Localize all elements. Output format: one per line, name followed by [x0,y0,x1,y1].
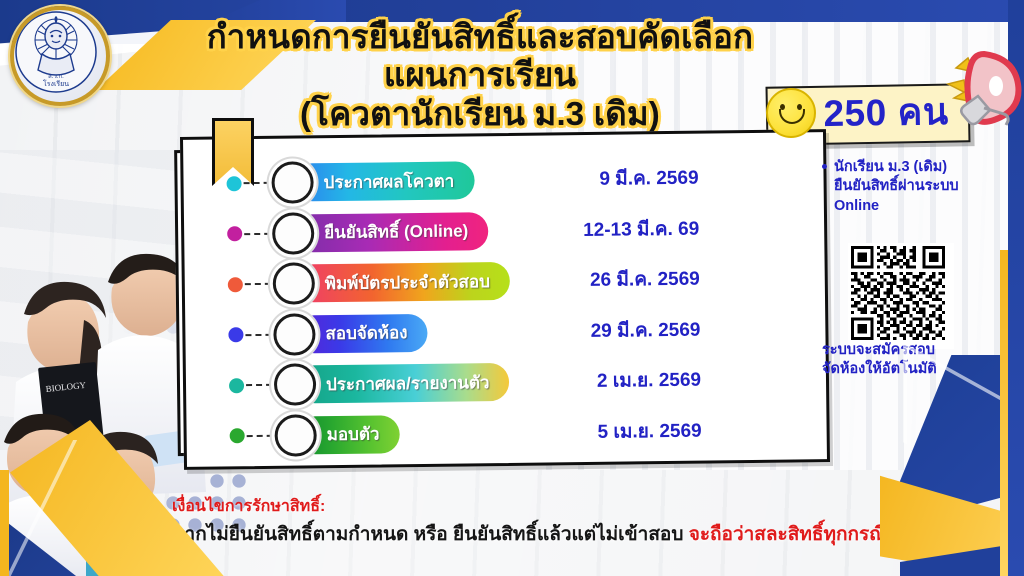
smiley-face-icon [766,88,816,138]
timeline-dot-icon [227,226,242,241]
timeline-dot-icon [230,428,245,443]
timeline-step-label[interactable]: พิมพ์บัตรประจำตัวสอบ [295,262,511,303]
timeline-step-date: 9 มี.ค. 2569 [599,163,699,194]
timeline-leader-line [245,333,271,335]
timeline-ring-icon [273,313,316,356]
timeline-step-date: 26 มี.ค. 2569 [590,264,700,295]
timeline-dot-icon [227,176,242,191]
timeline-step-label[interactable]: ประกาศผลโควตา [293,161,474,201]
timeline-step-label[interactable]: ยืนยันสิทธิ์ (Online) [294,212,489,252]
timeline-ring-icon [272,212,315,255]
bullet-dot-icon [822,164,827,169]
timeline-row[interactable]: ประกาศผล/รายงานตัว2 เม.ย. 2569 [183,355,824,409]
timeline-leader-line [245,283,271,285]
svg-text:ส.ว.ก.: ส.ว.ก. [48,73,64,80]
conditions-heading: เงื่อนไขการรักษาสิทธิ์: [172,494,325,519]
megaphone-icon [938,34,1024,126]
timeline-step-date: 2 เม.ย. 2569 [597,365,701,396]
timeline-dot-icon [228,327,243,342]
timeline-leader-line [247,434,273,436]
timeline-row[interactable]: พิมพ์บัตรประจำตัวสอบ26 มี.ค. 2569 [182,254,823,308]
left-yellow-strip [0,470,9,576]
poster-canvas: BIOLOGY [0,0,1024,576]
timeline-row[interactable]: ยืนยันสิทธิ์ (Online)12-13 มี.ค. 69 [181,204,822,258]
timeline-step-date: 5 เม.ย. 2569 [597,415,701,446]
note-bullet-1: นักเรียน ม.3 (เดิม) ยืนยันสิทธิ์ผ่านระบบ… [822,158,1022,222]
qr-code-icon[interactable] [848,243,954,349]
note1-line1: นักเรียน ม.3 (เดิม) [834,159,947,175]
timeline-ring-icon [274,414,317,457]
timeline-row[interactable]: มอบตัว5 เม.ย. 2569 [183,406,824,460]
page-title-line1: กำหนดการยืนยันสิทธิ์และสอบคัดเลือกแผนการ… [207,18,753,93]
svg-text:โรงเรียน: โรงเรียน [43,79,69,88]
timeline-dot-icon [228,277,243,292]
timeline-step-date: 12-13 มี.ค. 69 [583,213,699,244]
timeline-row[interactable]: ประกาศผลโควตา9 มี.ค. 2569 [180,153,821,207]
timeline-row[interactable]: สอบจัดห้อง29 มี.ค. 2569 [182,305,823,359]
conditions-body-black: หากไม่ยืนยันสิทธิ์ตามกำหนด หรือ ยืนยันสิ… [172,524,689,545]
conditions-body: หากไม่ยืนยันสิทธิ์ตามกำหนด หรือ ยืนยันสิ… [172,519,887,549]
timeline-list: ประกาศผลโควตา9 มี.ค. 2569ยืนยันสิทธิ์ (O… [180,129,824,464]
timeline-leader-line [246,384,272,386]
timeline-step-label[interactable]: ประกาศผล/รายงานตัว [296,363,510,404]
note1-line2: ยืนยันสิทธิ์ผ่านระบบ [834,178,959,194]
timeline-leader-line [244,232,270,234]
note1-line3: Online [834,198,879,214]
timeline-leader-line [244,182,270,184]
school-emblem: ส.ว.ก. โรงเรียน [10,6,110,106]
page-title: กำหนดการยืนยันสิทธิ์และสอบคัดเลือกแผนการ… [150,18,810,133]
timeline-dot-icon [229,378,244,393]
timeline-step-date: 29 มี.ค. 2569 [590,314,700,345]
conditions-body-red: จะถือว่าสละสิทธิ์ทุกกรณี [689,524,887,545]
